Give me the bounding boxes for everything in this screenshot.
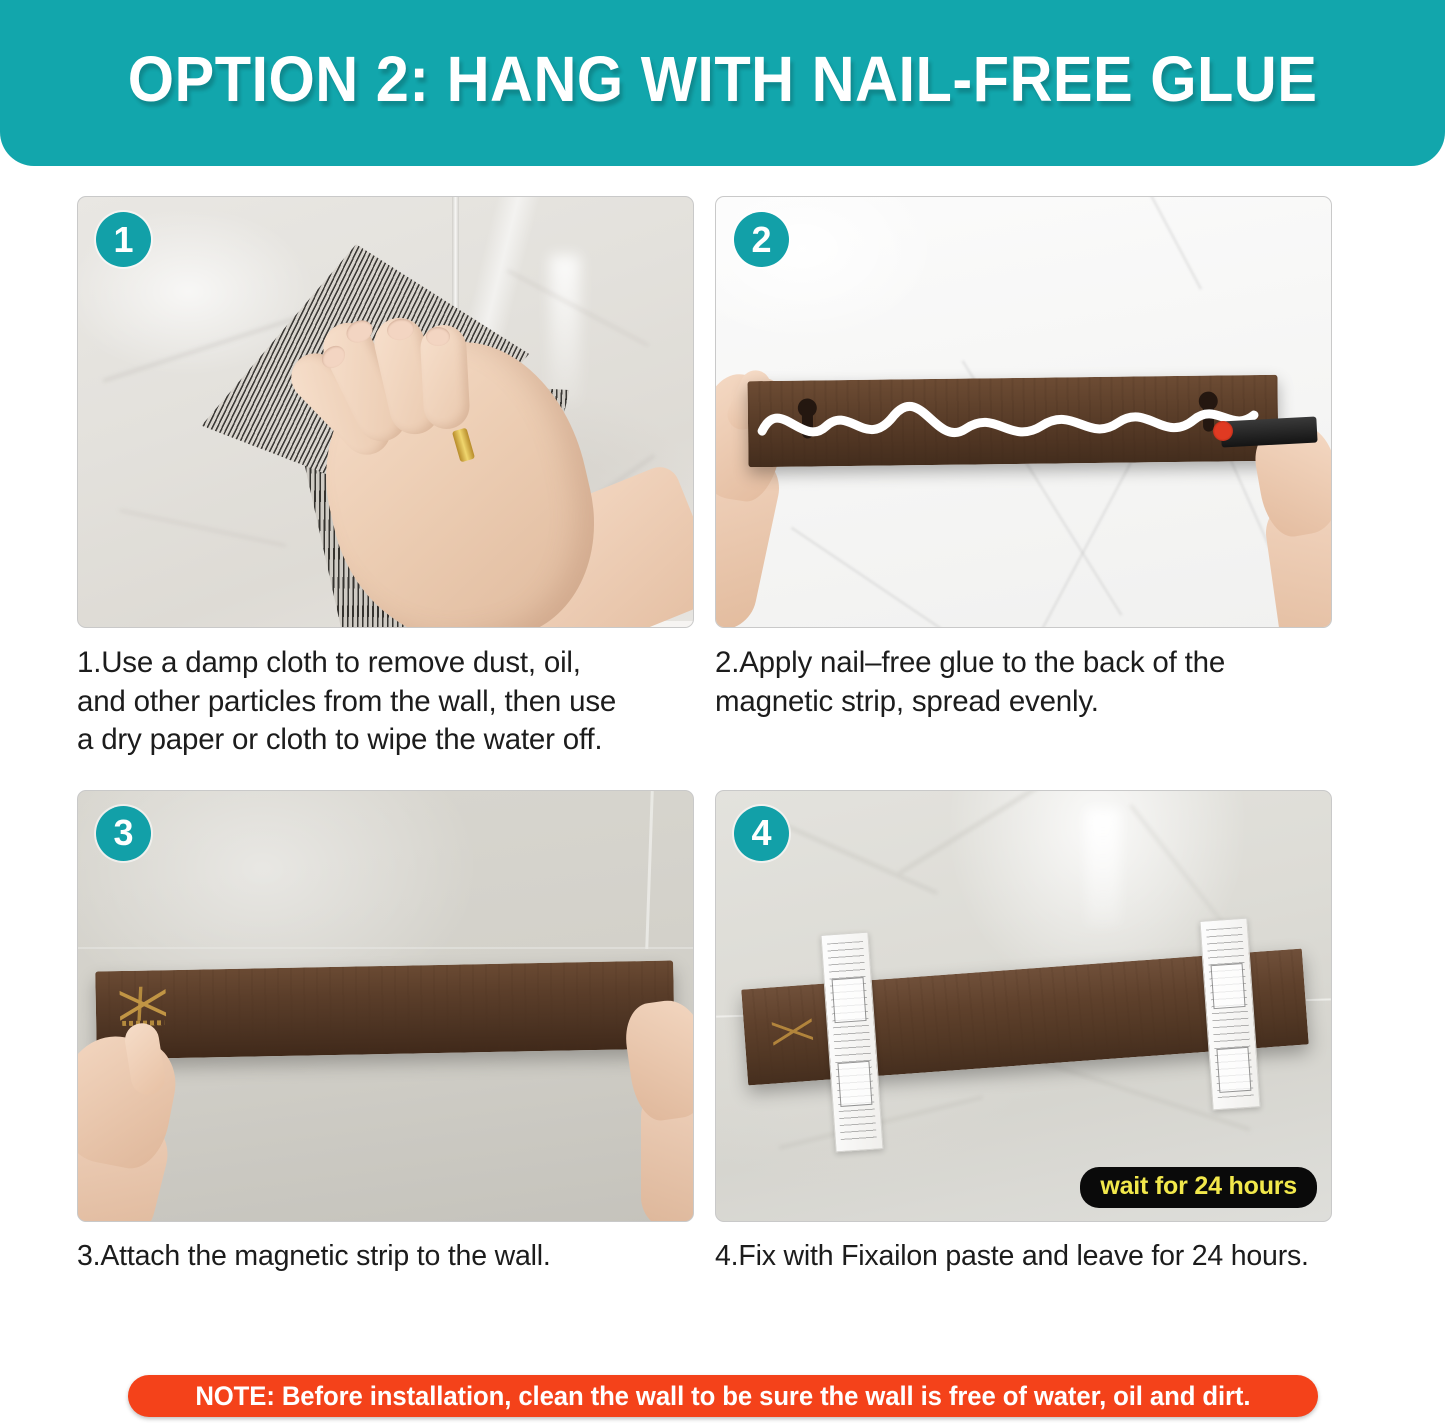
step-4-caption: 4.Fix with Fixailon paste and leave for … — [715, 1238, 1355, 1275]
tape-print-box — [832, 977, 867, 1023]
brand-logo-icon — [120, 986, 167, 1021]
step-badge-1: 1 — [96, 212, 151, 267]
wall-seam-horizontal — [78, 947, 693, 949]
step-2-caption: 2.Apply nail–free glue to the back of th… — [715, 644, 1355, 721]
step-1-photo — [77, 196, 694, 628]
step-badge-3: 3 — [96, 806, 151, 861]
wait-badge-label: wait for 24 hours — [1100, 1172, 1297, 1200]
right-hand — [621, 996, 694, 1124]
step-3-photo — [77, 790, 694, 1222]
wait-badge: wait for 24 hours — [1080, 1167, 1317, 1208]
step-1-caption: 1.Use a damp cloth to remove dust, oil, … — [77, 644, 717, 760]
glue-tube — [1220, 417, 1317, 448]
marble-vein — [1120, 196, 1202, 290]
step-1: 1 — [77, 196, 777, 760]
paper-tape-strip — [820, 932, 883, 1153]
page-title: OPTION 2: HANG WITH NAIL-FREE GLUE — [128, 42, 1318, 116]
step-row-bottom: 3 3.Attach the magnetic strip to the wal… — [0, 790, 1445, 1275]
note-text: NOTE: Before installation, clean the wal… — [195, 1381, 1250, 1412]
step-row-top: 1 — [0, 196, 1445, 760]
tape-print-lines — [827, 941, 877, 1143]
marble-vein — [898, 790, 1044, 875]
step-3-caption: 3.Attach the magnetic strip to the wall. — [77, 1238, 717, 1275]
brand-logo-icon — [772, 1017, 814, 1046]
wall-seam-vertical — [645, 791, 654, 949]
tile-sheen — [550, 255, 580, 405]
tape-print-box — [837, 1061, 872, 1107]
tile-highlight — [1086, 809, 1120, 927]
step-4-photo: wait for 24 hours — [715, 790, 1332, 1222]
magnetic-strip — [95, 960, 675, 1059]
header-banner: OPTION 2: HANG WITH NAIL-FREE GLUE — [0, 0, 1445, 166]
step-2-photo — [715, 196, 1332, 628]
marble-vein — [791, 527, 941, 628]
marble-vein — [120, 509, 287, 546]
tape-print-box — [1216, 1047, 1251, 1093]
glue-bead-icon — [754, 381, 1273, 459]
step-badge-2: 2 — [734, 212, 789, 267]
tape-print-box — [1211, 963, 1246, 1009]
note-bar: NOTE: Before installation, clean the wal… — [128, 1375, 1318, 1417]
paper-tape-strip — [1199, 917, 1260, 1110]
steps-grid: 1 — [0, 196, 1445, 1275]
step-4: 4 — [715, 790, 1415, 1275]
step-2: 2 — [715, 196, 1415, 760]
step-badge-4: 4 — [734, 806, 789, 861]
step-3: 3 3.Attach the magnetic strip to the wal… — [77, 790, 777, 1275]
magnetic-strip — [747, 375, 1278, 467]
fingernail — [426, 327, 450, 346]
